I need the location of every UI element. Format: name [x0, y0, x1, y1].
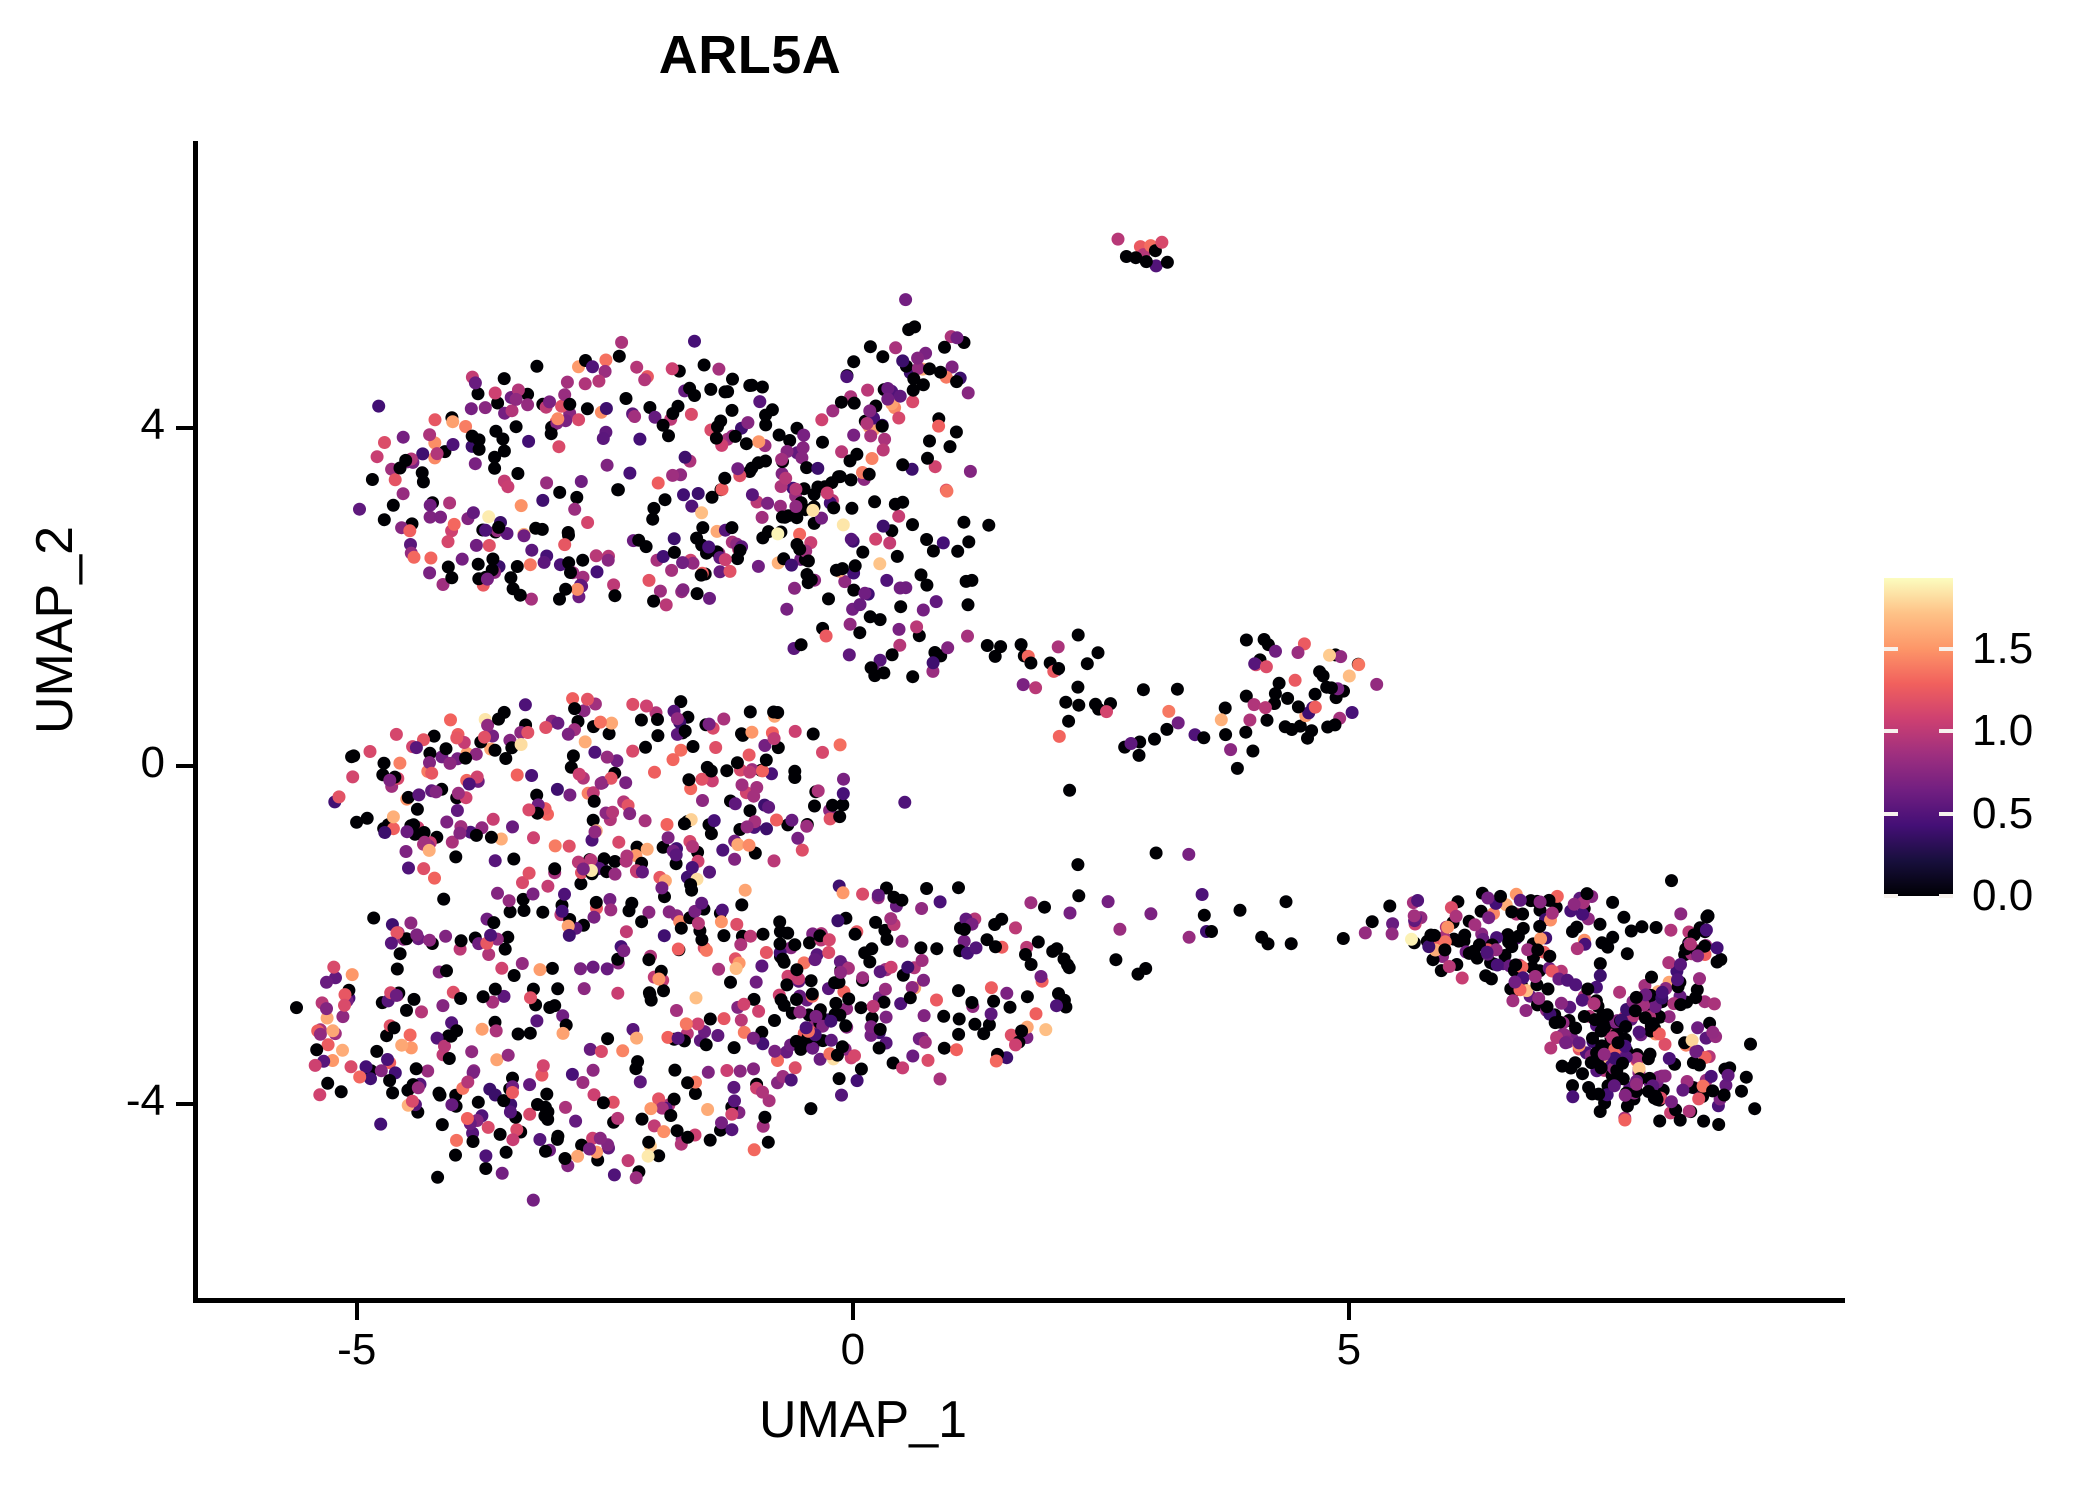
- scatter-point: [985, 981, 998, 994]
- scatter-point: [1671, 973, 1684, 986]
- scatter-point: [1161, 256, 1174, 269]
- scatter-point: [431, 1171, 444, 1184]
- scatter-point: [677, 488, 690, 501]
- scatter-point: [524, 1027, 537, 1040]
- scatter-point: [768, 732, 781, 745]
- scatter-point: [896, 1061, 909, 1074]
- scatter-point: [1556, 1060, 1569, 1073]
- scatter-point: [1248, 698, 1261, 711]
- scatter-point: [844, 618, 857, 631]
- y-axis-title: UMAP_2: [25, 526, 85, 734]
- scatter-point: [790, 1035, 803, 1048]
- scatter-point: [539, 721, 552, 734]
- scatter-point: [894, 582, 907, 595]
- scatter-point: [1543, 950, 1556, 963]
- scatter-point: [856, 971, 869, 984]
- scatter-point: [430, 785, 443, 798]
- y-tick-mark: [176, 764, 193, 768]
- scatter-point: [489, 983, 502, 996]
- scatter-point: [383, 774, 396, 787]
- scatter-point: [1411, 894, 1424, 907]
- scatter-point: [856, 888, 869, 901]
- scatter-point: [691, 587, 704, 600]
- scatter-point: [1269, 687, 1282, 700]
- scatter-point: [469, 457, 482, 470]
- scatter-point: [1269, 645, 1282, 658]
- scatter-point: [1292, 646, 1305, 659]
- scatter-point: [1030, 1007, 1043, 1020]
- scatter-point: [791, 538, 804, 551]
- scatter-point: [1259, 701, 1272, 714]
- scatter-point: [1000, 987, 1013, 1000]
- scatter-point: [453, 827, 466, 840]
- scatter-point: [1485, 972, 1498, 985]
- scatter-point: [506, 404, 519, 417]
- scatter-point: [404, 917, 417, 930]
- scatter-point: [790, 963, 803, 976]
- scatter-point: [680, 1017, 693, 1030]
- scatter-point: [800, 1021, 813, 1034]
- scatter-point: [597, 432, 610, 445]
- scatter-point: [1665, 874, 1678, 887]
- scatter-point: [1665, 1095, 1678, 1108]
- scatter-point: [652, 477, 665, 490]
- scatter-point: [891, 550, 904, 563]
- scatter-point: [910, 620, 923, 633]
- scatter-point: [489, 854, 502, 867]
- scatter-point: [898, 796, 911, 809]
- scatter-point: [872, 889, 885, 902]
- scatter-point: [476, 1023, 489, 1036]
- scatter-point: [1021, 990, 1034, 1003]
- scatter-point: [679, 451, 692, 464]
- scatter-point: [623, 807, 636, 820]
- scatter-point: [687, 740, 700, 753]
- scatter-point: [729, 797, 742, 810]
- scatter-point: [636, 1113, 649, 1126]
- scatter-point: [668, 1064, 681, 1077]
- scatter-point: [484, 929, 497, 942]
- scatter-point: [309, 1059, 322, 1072]
- scatter-point: [608, 589, 621, 602]
- scatter-point: [1568, 898, 1581, 911]
- scatter-point: [1566, 925, 1579, 938]
- scatter-point: [424, 552, 437, 565]
- scatter-point: [920, 533, 933, 546]
- scatter-point: [515, 738, 528, 751]
- scatter-point: [546, 962, 559, 975]
- scatter-point: [498, 372, 511, 385]
- scatter-point: [1559, 1036, 1572, 1049]
- scatter-point: [892, 412, 905, 425]
- scatter-point: [847, 584, 860, 597]
- scatter-point: [1215, 713, 1228, 726]
- scatter-point: [739, 884, 752, 897]
- scatter-point: [612, 483, 625, 496]
- scatter-point: [689, 1087, 702, 1100]
- scatter-point: [725, 1108, 738, 1121]
- scatter-point: [686, 861, 699, 874]
- scatter-point: [902, 323, 915, 336]
- scatter-point: [638, 373, 651, 386]
- scatter-point: [345, 1060, 358, 1073]
- scatter-point: [778, 511, 791, 524]
- scatter-point: [403, 524, 416, 537]
- scatter-point: [660, 598, 673, 611]
- scatter-point: [461, 1112, 474, 1125]
- scatter-point: [1569, 1022, 1582, 1035]
- scatter-point: [1240, 634, 1253, 647]
- scatter-point: [840, 370, 853, 383]
- scatter-point: [730, 962, 743, 975]
- scatter-point: [1686, 1034, 1699, 1047]
- scatter-point: [679, 725, 692, 738]
- scatter-point: [346, 968, 359, 981]
- scatter-point: [791, 832, 804, 845]
- scatter-point: [941, 641, 954, 654]
- scatter-point: [1015, 1025, 1028, 1038]
- scatter-point: [1529, 970, 1542, 983]
- scatter-point: [773, 915, 786, 928]
- scatter-point: [1015, 638, 1028, 651]
- scatter-point: [1072, 889, 1085, 902]
- scatter-point: [670, 1004, 683, 1017]
- scatter-point: [336, 1010, 349, 1023]
- scatter-point: [410, 741, 423, 754]
- x-axis-title: UMAP_1: [193, 1390, 1533, 1450]
- scatter-point: [1533, 920, 1546, 933]
- scatter-point: [688, 389, 701, 402]
- scatter-point: [1443, 960, 1456, 973]
- scatter-points-svg: [198, 141, 1845, 1298]
- scatter-point: [504, 905, 517, 918]
- scatter-point: [590, 896, 603, 909]
- scatter-point: [848, 1049, 861, 1062]
- scatter-point: [400, 845, 413, 858]
- scatter-point: [536, 494, 549, 507]
- scatter-point: [790, 511, 803, 524]
- scatter-point: [1621, 1100, 1634, 1113]
- scatter-point: [745, 726, 758, 739]
- scatter-point: [1309, 688, 1322, 701]
- scatter-point: [611, 1112, 624, 1125]
- scatter-point: [704, 1134, 717, 1147]
- scatter-point: [511, 467, 524, 480]
- scatter-point: [1071, 681, 1084, 694]
- scatter-point: [489, 425, 502, 438]
- scatter-point: [1700, 924, 1713, 937]
- scatter-point: [747, 1032, 760, 1045]
- scatter-point: [456, 553, 469, 566]
- scatter-point: [655, 881, 668, 894]
- x-tick-label: 0: [763, 1325, 943, 1375]
- scatter-point: [934, 366, 947, 379]
- scatter-point: [728, 853, 741, 866]
- scatter-point: [290, 1001, 303, 1014]
- scatter-point: [1706, 1026, 1719, 1039]
- scatter-point: [1248, 657, 1261, 670]
- scatter-point: [691, 1018, 704, 1031]
- scatter-point: [1618, 1114, 1631, 1127]
- scatter-point: [574, 962, 587, 975]
- scatter-point: [951, 331, 964, 344]
- scatter-point: [481, 719, 494, 732]
- scatter-point: [511, 560, 524, 573]
- scatter-point: [1292, 700, 1305, 713]
- scatter-point: [711, 1029, 724, 1042]
- scatter-point: [500, 1146, 513, 1159]
- scatter-point: [590, 549, 603, 562]
- scatter-point: [563, 398, 576, 411]
- scatter-point: [901, 961, 914, 974]
- scatter-point: [524, 558, 537, 571]
- scatter-point: [1050, 999, 1063, 1012]
- scatter-point: [1162, 705, 1175, 718]
- scatter-point: [440, 742, 453, 755]
- scatter-point: [361, 812, 374, 825]
- scatter-point: [1219, 728, 1232, 741]
- scatter-point: [1125, 737, 1138, 750]
- scatter-point: [743, 749, 756, 762]
- scatter-point: [1571, 942, 1584, 955]
- scatter-point: [1109, 953, 1122, 966]
- scatter-point: [889, 498, 902, 511]
- colorbar-tick-mark: [1884, 812, 1898, 816]
- scatter-point: [833, 810, 846, 823]
- scatter-point: [551, 982, 564, 995]
- scatter-point: [1323, 649, 1336, 662]
- scatter-point: [812, 784, 825, 797]
- scatter-point: [822, 592, 835, 605]
- scatter-point: [800, 461, 813, 474]
- scatter-point: [395, 1039, 408, 1052]
- scatter-point: [695, 897, 708, 910]
- scatter-point: [313, 1088, 326, 1101]
- scatter-point: [1243, 714, 1256, 727]
- scatter-point: [1072, 699, 1085, 712]
- scatter-point: [834, 966, 847, 979]
- scatter-point: [1542, 983, 1555, 996]
- scatter-point: [338, 999, 351, 1012]
- scatter-point: [804, 1102, 817, 1115]
- scatter-point: [394, 947, 407, 960]
- scatter-point: [563, 840, 576, 853]
- scatter-point: [795, 638, 808, 651]
- scatter-point: [602, 554, 615, 567]
- scatter-point: [964, 465, 977, 478]
- scatter-point: [1712, 1118, 1725, 1131]
- scatter-point: [490, 1053, 503, 1066]
- scatter-point: [390, 728, 403, 741]
- scatter-point: [630, 1171, 643, 1184]
- scatter-point: [709, 741, 722, 754]
- colorbar-tick-mark: [1884, 729, 1898, 733]
- scatter-point: [385, 937, 398, 950]
- scatter-point: [923, 435, 936, 448]
- scatter-point: [1144, 907, 1157, 920]
- scatter-point: [1424, 929, 1437, 942]
- scatter-point: [856, 546, 869, 559]
- scatter-point: [1313, 665, 1326, 678]
- colorbar-tick-mark: [1939, 894, 1953, 898]
- scatter-point: [503, 894, 516, 907]
- scatter-point: [511, 769, 524, 782]
- scatter-point: [666, 362, 679, 375]
- scatter-point: [1133, 749, 1146, 762]
- scatter-point: [741, 820, 754, 833]
- scatter-point: [665, 564, 678, 577]
- scatter-point: [479, 401, 492, 414]
- scatter-point: [467, 1135, 480, 1148]
- scatter-point: [726, 404, 739, 417]
- scatter-point: [711, 420, 724, 433]
- scatter-point: [970, 941, 983, 954]
- scatter-point: [449, 850, 462, 863]
- scatter-point: [727, 1081, 740, 1094]
- scatter-point: [469, 376, 482, 389]
- scatter-point: [643, 574, 656, 587]
- scatter-point: [620, 392, 633, 405]
- scatter-point: [1481, 946, 1494, 959]
- scatter-point: [1748, 1102, 1761, 1115]
- scatter-point: [1343, 670, 1356, 683]
- scatter-point: [879, 983, 892, 996]
- scatter-point: [506, 1133, 519, 1146]
- scatter-point: [774, 500, 787, 513]
- scatter-point: [950, 426, 963, 439]
- scatter-point: [816, 746, 829, 759]
- scatter-point: [412, 1081, 425, 1094]
- scatter-point: [667, 753, 680, 766]
- scatter-point: [1616, 1057, 1629, 1070]
- scatter-point: [743, 839, 756, 852]
- scatter-point: [1676, 1084, 1689, 1097]
- scatter-point: [1588, 997, 1601, 1010]
- scatter-point: [678, 817, 691, 830]
- scatter-point: [876, 420, 889, 433]
- scatter-point: [907, 372, 920, 385]
- scatter-point: [930, 994, 943, 1007]
- scatter-point: [811, 462, 824, 475]
- scatter-point: [906, 670, 919, 683]
- scatter-point: [961, 630, 974, 643]
- scatter-point: [774, 937, 787, 950]
- scatter-point: [894, 600, 907, 613]
- scatter-point: [1576, 908, 1589, 921]
- scatter-point: [1059, 696, 1072, 709]
- scatter-point: [450, 1134, 463, 1147]
- scatter-point: [916, 954, 929, 967]
- scatter-point: [816, 436, 829, 449]
- scatter-point: [604, 903, 617, 916]
- scatter-point: [1183, 931, 1196, 944]
- scatter-point: [668, 532, 681, 545]
- scatter-point: [397, 487, 410, 500]
- scatter-point: [487, 813, 500, 826]
- scatter-point: [896, 354, 909, 367]
- scatter-point: [431, 447, 444, 460]
- scatter-point: [588, 795, 601, 808]
- scatter-point: [951, 545, 964, 558]
- scatter-point: [620, 925, 633, 938]
- scatter-point: [519, 698, 532, 711]
- scatter-point: [740, 437, 753, 450]
- scatter-point: [516, 957, 529, 970]
- scatter-point: [1224, 743, 1237, 756]
- scatter-point: [779, 472, 792, 485]
- scatter-point: [835, 396, 848, 409]
- scatter-point: [631, 1055, 644, 1068]
- scatter-point: [985, 1008, 998, 1021]
- scatter-point: [512, 1028, 525, 1041]
- scatter-point: [1038, 901, 1051, 914]
- scatter-point: [1450, 910, 1463, 923]
- scatter-point: [914, 941, 927, 954]
- scatter-point: [770, 814, 783, 827]
- scatter-point: [1197, 731, 1210, 744]
- scatter-point: [447, 438, 460, 451]
- scatter-point: [989, 940, 1002, 953]
- scatter-point: [586, 360, 599, 373]
- scatter-point: [671, 1124, 684, 1137]
- scatter-point: [677, 583, 690, 596]
- scatter-point: [374, 1118, 387, 1131]
- scatter-point: [666, 407, 679, 420]
- scatter-point: [684, 878, 697, 891]
- scatter-point: [1019, 948, 1032, 961]
- scatter-point: [410, 1062, 423, 1075]
- scatter-point: [634, 1075, 647, 1088]
- scatter-point: [809, 953, 822, 966]
- scatter-point: [597, 1096, 610, 1109]
- scatter-point: [400, 1004, 413, 1017]
- scatter-point: [539, 1145, 552, 1158]
- scatter-point: [788, 771, 801, 784]
- scatter-point: [844, 454, 857, 467]
- scatter-point: [320, 1002, 333, 1015]
- scatter-point: [477, 990, 490, 1003]
- scatter-point: [1697, 1115, 1710, 1128]
- scatter-point: [1592, 1088, 1605, 1101]
- scatter-point: [780, 603, 793, 616]
- scatter-point: [661, 818, 674, 831]
- scatter-point: [1366, 915, 1379, 928]
- scatter-point: [1305, 724, 1318, 737]
- scatter-point: [1566, 1079, 1579, 1092]
- scatter-point: [1520, 1004, 1533, 1017]
- scatter-point: [990, 1055, 1003, 1068]
- scatter-point: [439, 930, 452, 943]
- scatter-point: [987, 995, 1000, 1008]
- scatter-point: [1246, 745, 1259, 758]
- scatter-point: [388, 1021, 401, 1034]
- scatter-point: [876, 350, 889, 363]
- scatter-point: [1205, 925, 1218, 938]
- scatter-point: [672, 1032, 685, 1045]
- scatter-point: [762, 801, 775, 814]
- scatter-point: [588, 911, 601, 924]
- scatter-point: [641, 843, 654, 856]
- scatter-point: [920, 882, 933, 895]
- scatter-point: [1052, 640, 1065, 653]
- scatter-point: [962, 535, 975, 548]
- scatter-point: [1594, 957, 1607, 970]
- scatter-point: [831, 914, 844, 927]
- scatter-point: [1289, 674, 1302, 687]
- scatter-point: [921, 452, 934, 465]
- scatter-point: [746, 488, 759, 501]
- scatter-point: [1196, 888, 1209, 901]
